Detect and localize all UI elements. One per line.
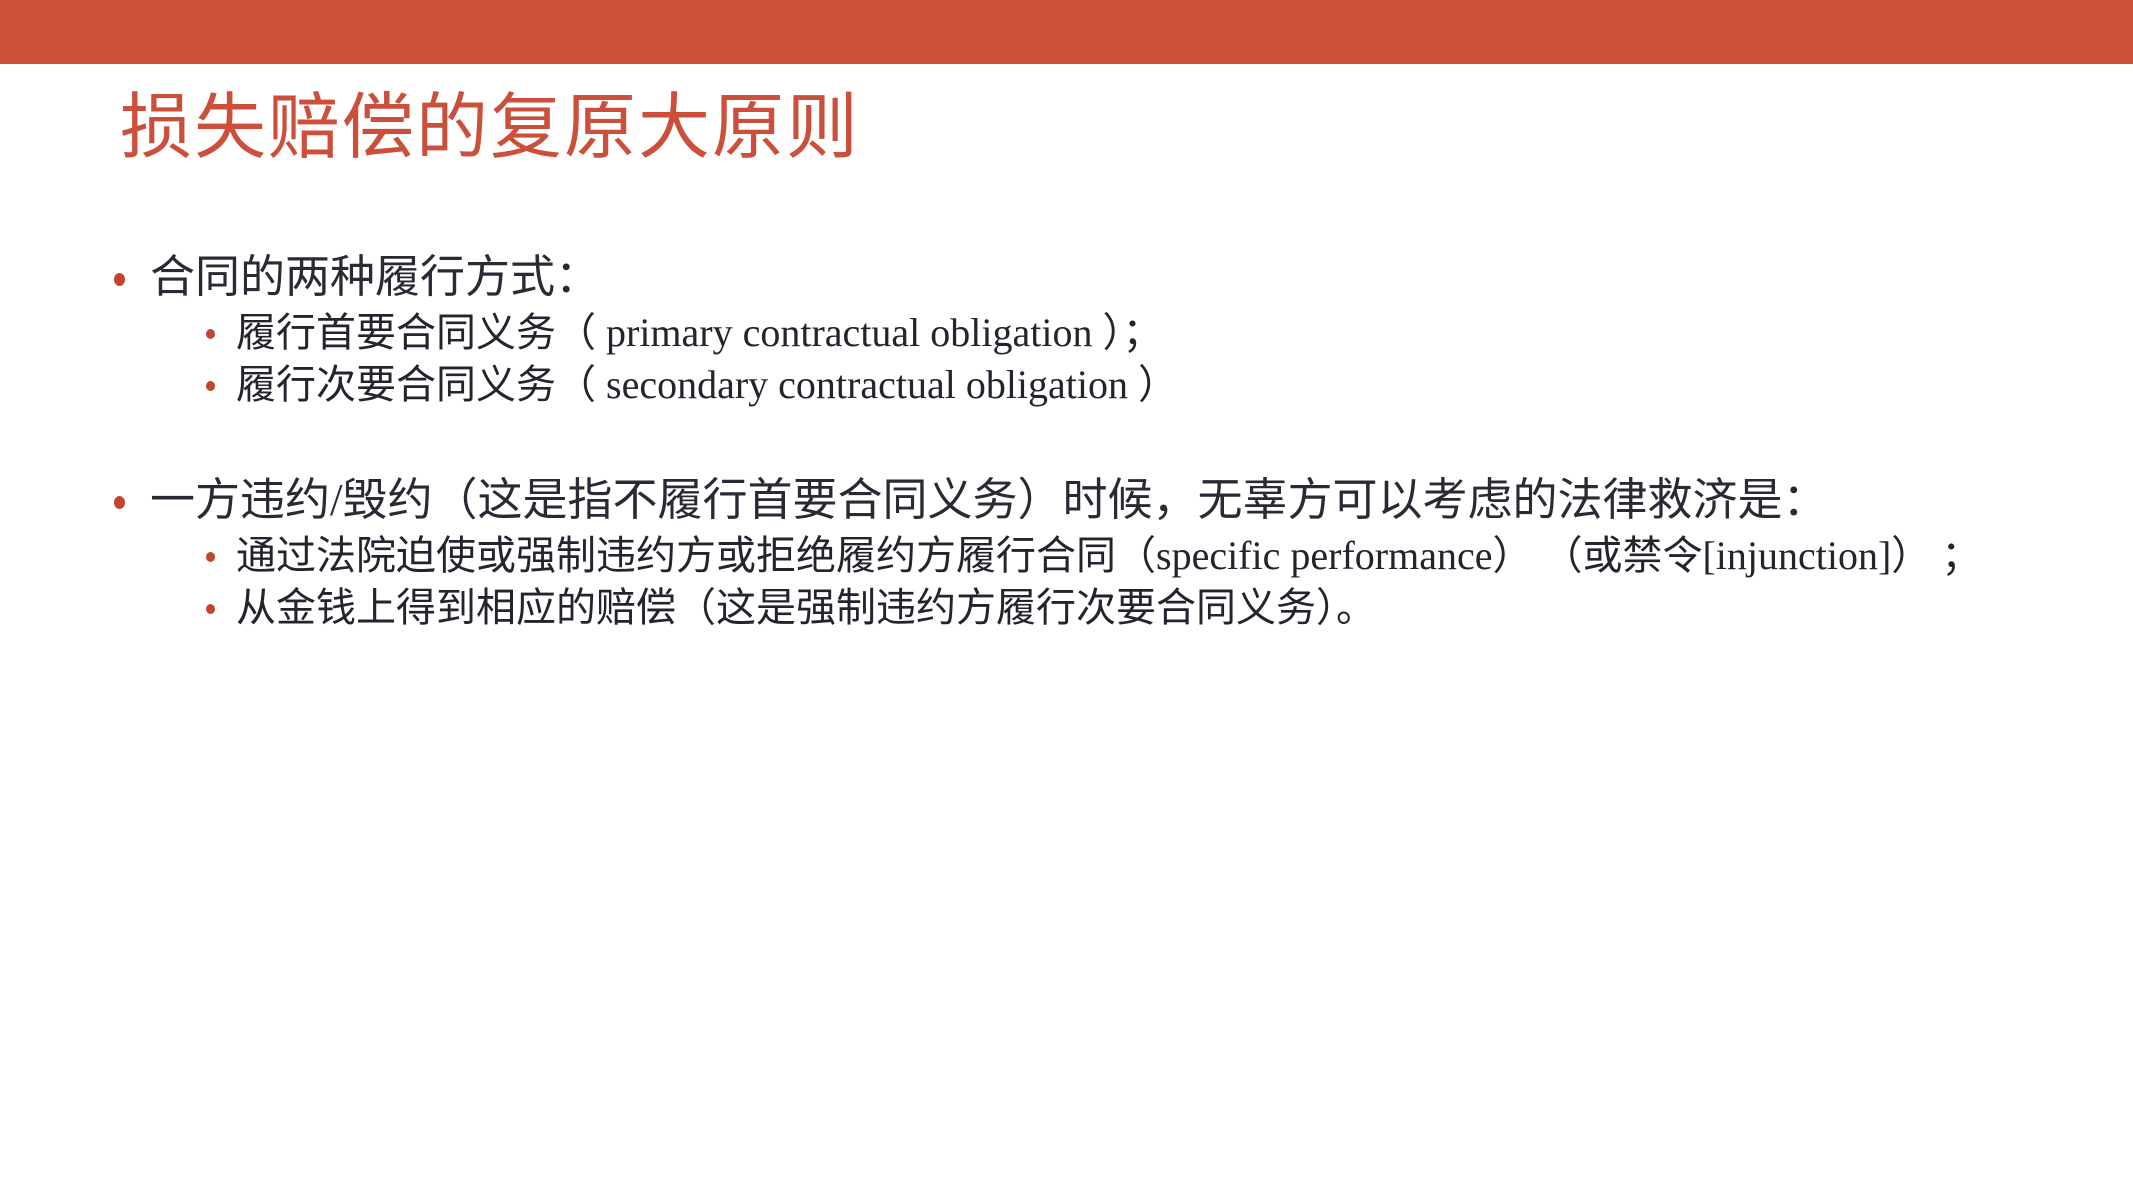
bullet-dot-icon	[206, 329, 215, 339]
bullet-level1: 一方违约/毁约（这是指不履行首要合同义务）时候，无辜方可以考虑的法律救济是：	[108, 473, 2048, 528]
bullet-level2: 履行次要合同义务（ secondary contractual obligati…	[148, 359, 2048, 410]
slide-header-bar	[0, 0, 2133, 64]
bullet-level1: 合同的两种履行方式：	[108, 250, 2048, 305]
presentation-slide: 损失赔偿的复原大原则 合同的两种履行方式： 履行首要合同义务（ primary …	[0, 0, 2133, 1200]
slide-title: 损失赔偿的复原大原则	[120, 92, 2020, 164]
bullet-level2-text: 通过法院迫使或强制违约方或拒绝履约方履行合同（specific performa…	[236, 533, 1981, 578]
bullet-level2: 从金钱上得到相应的赔偿（这是强制违约方履行次要合同义务）。	[148, 582, 2048, 633]
bullet-dot-icon	[114, 496, 125, 509]
bullet-block-2: 一方违约/毁约（这是指不履行首要合同义务）时候，无辜方可以考虑的法律救济是： 通…	[108, 473, 2048, 633]
bullet-dot-icon	[206, 604, 215, 614]
bullet-dot-icon	[114, 273, 125, 286]
bullet-block-1: 合同的两种履行方式： 履行首要合同义务（ primary contractual…	[108, 250, 2048, 410]
bullet-level1-text: 合同的两种履行方式：	[150, 252, 600, 302]
bullet-level2-text: 从金钱上得到相应的赔偿（这是强制违约方履行次要合同义务）。	[236, 585, 1376, 630]
bullet-dot-icon	[206, 381, 215, 391]
bullet-level2: 履行首要合同义务（ primary contractual obligation…	[148, 307, 2048, 358]
bullet-level2: 通过法院迫使或强制违约方或拒绝履约方履行合同（specific performa…	[148, 530, 2048, 581]
bullet-level2-text: 履行次要合同义务（ secondary contractual obligati…	[236, 362, 1178, 407]
bullet-level1-text: 一方违约/毁约（这是指不履行首要合同义务）时候，无辜方可以考虑的法律救济是：	[150, 475, 1828, 525]
bullet-level2-text: 履行首要合同义务（ primary contractual obligation…	[236, 310, 1163, 355]
bullet-dot-icon	[206, 552, 215, 562]
slide-body: 合同的两种履行方式： 履行首要合同义务（ primary contractual…	[108, 250, 2048, 635]
block-spacer	[108, 411, 2048, 473]
